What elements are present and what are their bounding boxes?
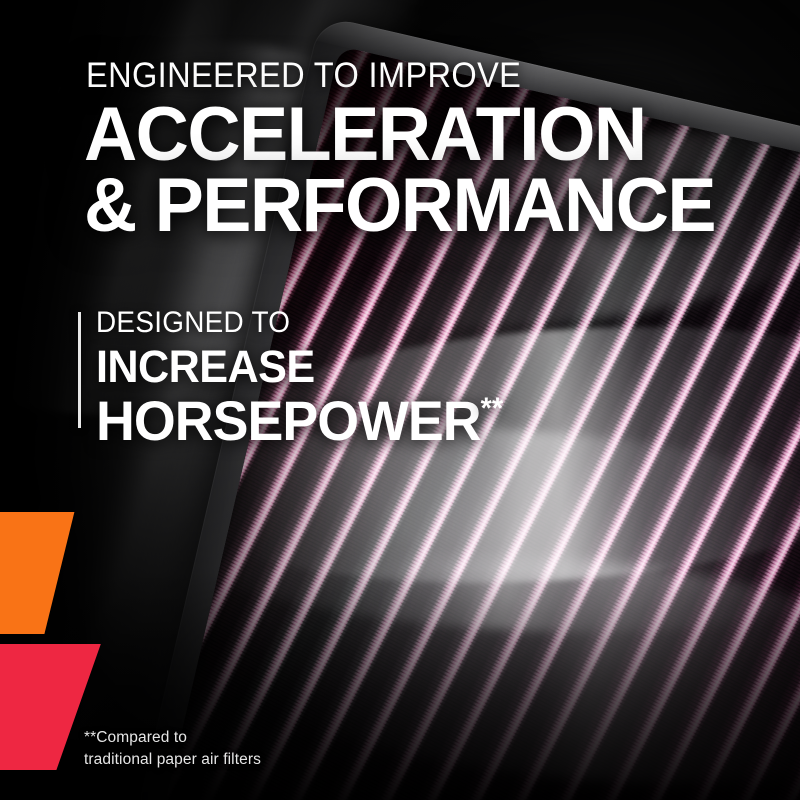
sub-headline-horsepower-text: HORSEPOWER bbox=[96, 389, 481, 452]
marketing-banner: ENGINEERED TO IMPROVE ACCELERATION & PER… bbox=[0, 0, 800, 800]
footnote-disclaimer: **Compared to traditional paper air filt… bbox=[84, 727, 261, 771]
footnote-marker: ** bbox=[481, 392, 503, 425]
vertical-rule-divider bbox=[78, 312, 81, 428]
headline-line-2: & PERFORMANCE bbox=[84, 171, 715, 242]
sub-headline-increase: INCREASE bbox=[96, 344, 503, 389]
footnote-line-2: traditional paper air filters bbox=[84, 749, 261, 771]
sub-headline-horsepower: HORSEPOWER** bbox=[96, 393, 503, 449]
headline-eyebrow: ENGINEERED TO IMPROVE bbox=[86, 58, 521, 93]
footnote-line-1: **Compared to bbox=[84, 727, 261, 749]
sub-eyebrow: DESIGNED TO bbox=[96, 308, 490, 338]
sub-message-block: DESIGNED TO INCREASE HORSEPOWER** bbox=[78, 308, 520, 449]
main-headline: ACCELERATION & PERFORMANCE bbox=[84, 100, 715, 241]
